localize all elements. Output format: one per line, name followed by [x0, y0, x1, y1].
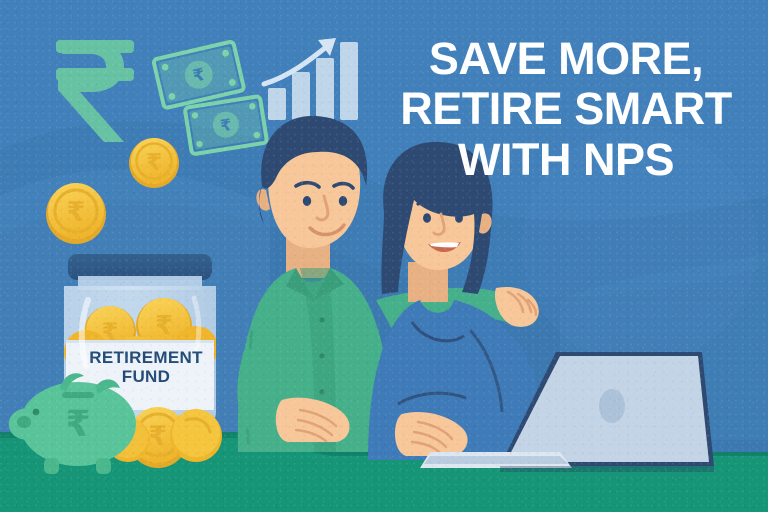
headline-line-1: SAVE MORE, [386, 34, 746, 84]
svg-text:₹: ₹ [155, 311, 173, 341]
jar-label-text: RETIREMENT FUND [72, 348, 220, 386]
headline-line-3: WITH NPS [386, 135, 746, 185]
jar-label-line-2: FUND [72, 367, 220, 386]
svg-text:₹: ₹ [149, 421, 168, 452]
poster-canvas: ₹ ₹ [0, 0, 768, 512]
jar-label-line-1: RETIREMENT [72, 348, 220, 367]
svg-text:₹: ₹ [146, 150, 162, 176]
svg-text:₹: ₹ [67, 197, 86, 228]
coin-falling-upper: ₹ [129, 138, 179, 188]
svg-text:₹: ₹ [65, 404, 90, 445]
headline: SAVE MORE, RETIRE SMART WITH NPS [386, 34, 746, 185]
headline-line-2: RETIRE SMART [386, 84, 746, 134]
